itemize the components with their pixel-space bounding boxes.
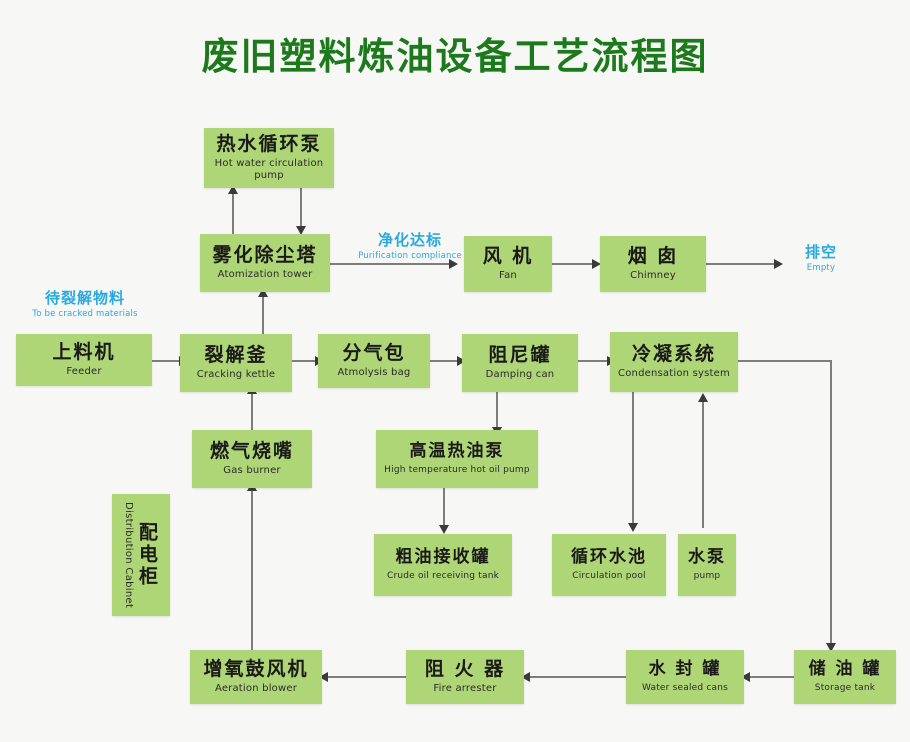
- node-label-en: Fire arrester: [433, 683, 496, 695]
- node-label-en: Cracking kettle: [197, 369, 276, 381]
- node-label-en: Gas burner: [223, 465, 281, 477]
- node-hot-water-circulation-pump[interactable]: 热水循环泵 Hot water circulation pump: [204, 128, 334, 188]
- connector-chimney-to-empty: [706, 263, 776, 265]
- node-label-en: Storage tank: [815, 683, 875, 694]
- node-label-cn: 燃气烧嘴: [210, 441, 294, 463]
- annotation-label-cn: 排空: [786, 244, 856, 261]
- node-label-cn: 粗油接收罐: [396, 548, 491, 568]
- annotation-label-en: Empty: [786, 263, 856, 273]
- connector-fan-to-chimney: [552, 263, 594, 265]
- node-label-en: Circulation pool: [572, 571, 645, 582]
- arrowhead-right: [449, 259, 458, 269]
- node-label-cn: 阻尼罐: [488, 345, 551, 367]
- connector-hotwaterpump-to-tower: [300, 188, 302, 228]
- node-label-cn: 烟 囱: [628, 246, 679, 268]
- node-atmolysis-bag[interactable]: 分气包 Atmolysis bag: [318, 334, 430, 388]
- connector-tower-to-hotwaterpump: [232, 192, 234, 234]
- node-label-cn: 冷凝系统: [632, 344, 716, 366]
- arrowhead-down: [439, 525, 449, 534]
- annotation-label-cn: 待裂解物料: [20, 290, 150, 307]
- node-label-cn: 增氧鼓风机: [203, 659, 308, 681]
- page-title: 废旧塑料炼油设备工艺流程图: [0, 26, 910, 80]
- node-label-cn: 裂解釜: [204, 345, 267, 367]
- node-label-en: Chimney: [630, 270, 676, 282]
- node-label-en: Condensation system: [618, 368, 730, 380]
- connector-down-to-storage: [830, 360, 832, 650]
- node-label-cn: 风 机: [483, 246, 534, 268]
- flowchart-canvas: 废旧塑料炼油设备工艺流程图: [0, 0, 910, 742]
- node-label-cn: 配电柜: [134, 522, 161, 588]
- connector-firearrester-to-blower: [322, 676, 406, 678]
- connector-kettle-to-tower: [262, 295, 264, 335]
- connector-watersealed-to-firearrester: [524, 676, 626, 678]
- node-water-sealed-cans[interactable]: 水 封 罐 Water sealed cans: [626, 650, 744, 704]
- connector-tower-to-fan: [330, 263, 450, 265]
- node-label-cn: 上料机: [52, 342, 115, 364]
- connector-storage-to-watersealed: [744, 676, 794, 678]
- node-circulation-pool[interactable]: 循环水池 Circulation pool: [552, 534, 666, 596]
- connector-condensation-right: [738, 360, 832, 362]
- node-condensation-system[interactable]: 冷凝系统 Condensation system: [610, 332, 738, 392]
- node-label-cn: 分气包: [342, 343, 405, 365]
- annotation-empty: 排空 Empty: [786, 244, 856, 273]
- connector-pump-to-condensation: [702, 400, 704, 528]
- arrowhead-right: [774, 259, 783, 269]
- annotation-purification-compliance: 净化达标 Purification compliance: [340, 232, 480, 261]
- arrowhead-up: [698, 393, 708, 402]
- node-label-en: Atmolysis bag: [338, 367, 411, 379]
- node-label-en: Hot water circulation pump: [204, 158, 334, 182]
- node-label-cn: 水泵: [688, 548, 726, 568]
- node-label-en: Water sealed cans: [642, 683, 728, 694]
- node-aeration-blower[interactable]: 增氧鼓风机 Aeration blower: [190, 650, 322, 704]
- node-label-en: Atomization tower: [218, 269, 313, 281]
- node-cracking-kettle[interactable]: 裂解釜 Cracking kettle: [180, 334, 292, 392]
- node-chimney[interactable]: 烟 囱 Chimney: [600, 236, 706, 292]
- connector-bag-to-damping: [430, 360, 460, 362]
- connector-hotoilpump-to-crudetank: [443, 488, 445, 528]
- connector-blower-to-burner: [251, 488, 253, 650]
- node-label-en: Aeration blower: [215, 683, 297, 695]
- node-distribution-cabinet[interactable]: 配电柜 Distribution Cabinet: [112, 494, 170, 616]
- connector-damping-to-condensation: [578, 360, 610, 362]
- node-label-en: Damping can: [486, 369, 555, 381]
- node-fire-arrester[interactable]: 阻 火 器 Fire arrester: [406, 650, 524, 704]
- node-label-cn: 高温热油泵: [410, 442, 505, 462]
- node-label-cn: 阻 火 器: [425, 659, 505, 681]
- node-label-en: Fan: [499, 270, 517, 282]
- node-storage-tank[interactable]: 储 油 罐 Storage tank: [794, 650, 896, 704]
- node-label-cn: 循环水池: [571, 548, 647, 568]
- annotation-label-en: Purification compliance: [340, 251, 480, 261]
- node-label-en: Distribution Cabinet: [123, 502, 134, 608]
- node-label-en: pump: [694, 571, 721, 582]
- node-crude-oil-receiving-tank[interactable]: 粗油接收罐 Crude oil receiving tank: [374, 534, 512, 596]
- node-gas-burner[interactable]: 燃气烧嘴 Gas burner: [192, 430, 312, 488]
- node-feeder[interactable]: 上料机 Feeder: [16, 334, 152, 386]
- node-label-cn: 热水循环泵: [216, 134, 321, 156]
- connector-feeder-to-kettle: [152, 360, 182, 362]
- connector-condensation-to-pool: [632, 392, 634, 526]
- node-label-cn: 储 油 罐: [809, 660, 882, 680]
- node-label-cn: 雾化除尘塔: [212, 245, 317, 267]
- node-label-en: High temperature hot oil pump: [384, 465, 530, 476]
- node-label-cn: 水 封 罐: [649, 660, 722, 680]
- annotation-label-cn: 净化达标: [340, 232, 480, 249]
- arrowhead-down: [628, 523, 638, 532]
- node-high-temperature-hot-oil-pump[interactable]: 高温热油泵 High temperature hot oil pump: [376, 430, 538, 488]
- annotation-feedstock: 待裂解物料 To be cracked materials: [20, 290, 150, 319]
- node-damping-can[interactable]: 阻尼罐 Damping can: [462, 334, 578, 392]
- connector-damping-to-hotoilpump: [496, 392, 498, 430]
- node-water-pump[interactable]: 水泵 pump: [678, 534, 736, 596]
- connector-burner-to-kettle: [251, 392, 253, 430]
- node-label-en: Feeder: [66, 366, 101, 378]
- annotation-label-en: To be cracked materials: [20, 309, 150, 319]
- node-label-en: Crude oil receiving tank: [387, 571, 499, 582]
- node-atomization-tower[interactable]: 雾化除尘塔 Atomization tower: [200, 234, 330, 292]
